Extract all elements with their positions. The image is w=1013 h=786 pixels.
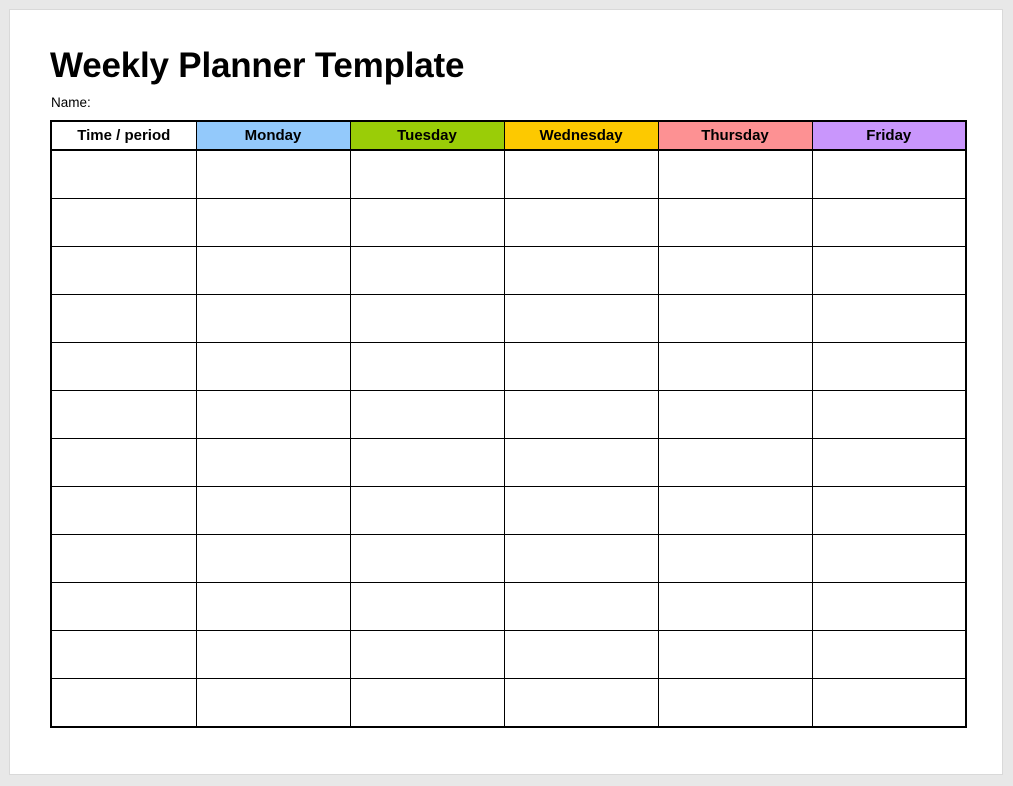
planner-entry-cell[interactable] (504, 247, 658, 295)
planner-entry-cell[interactable] (812, 247, 966, 295)
table-row (51, 247, 966, 295)
table-row (51, 391, 966, 439)
planner-entry-cell[interactable] (504, 391, 658, 439)
planner-entry-cell[interactable] (196, 631, 350, 679)
document-body: Weekly Planner Template Name: Time / per… (50, 45, 966, 728)
planner-entry-cell[interactable] (350, 199, 504, 247)
planner-time-cell[interactable] (51, 439, 196, 487)
planner-entry-cell[interactable] (196, 247, 350, 295)
planner-entry-cell[interactable] (658, 391, 812, 439)
table-row (51, 439, 966, 487)
planner-header-label: Friday (866, 127, 911, 144)
planner-entry-cell[interactable] (196, 535, 350, 583)
planner-table-head: Time / periodMondayTuesdayWednesdayThurs… (51, 121, 966, 150)
table-row (51, 343, 966, 391)
table-row (51, 295, 966, 343)
planner-entry-cell[interactable] (504, 583, 658, 631)
planner-time-cell[interactable] (51, 679, 196, 728)
planner-entry-cell[interactable] (350, 439, 504, 487)
planner-entry-cell[interactable] (350, 631, 504, 679)
planner-header-cell-monday: Monday (196, 121, 350, 150)
planner-entry-cell[interactable] (350, 343, 504, 391)
planner-entry-cell[interactable] (504, 295, 658, 343)
planner-header-cell-tuesday: Tuesday (350, 121, 504, 150)
planner-entry-cell[interactable] (350, 150, 504, 199)
planner-header-cell-time-period: Time / period (51, 121, 196, 150)
planner-entry-cell[interactable] (504, 343, 658, 391)
planner-time-cell[interactable] (51, 391, 196, 439)
weekly-planner-table: Time / periodMondayTuesdayWednesdayThurs… (50, 120, 967, 728)
planner-entry-cell[interactable] (658, 583, 812, 631)
planner-header-label: Time / period (77, 127, 170, 144)
planner-entry-cell[interactable] (812, 150, 966, 199)
planner-entry-cell[interactable] (196, 150, 350, 199)
planner-entry-cell[interactable] (350, 583, 504, 631)
planner-entry-cell[interactable] (812, 391, 966, 439)
planner-entry-cell[interactable] (504, 199, 658, 247)
planner-time-cell[interactable] (51, 343, 196, 391)
planner-entry-cell[interactable] (350, 295, 504, 343)
table-row (51, 199, 966, 247)
planner-header-row: Time / periodMondayTuesdayWednesdayThurs… (51, 121, 966, 150)
planner-header-label: Tuesday (397, 127, 457, 144)
planner-header-label: Thursday (701, 127, 769, 144)
planner-entry-cell[interactable] (812, 295, 966, 343)
planner-entry-cell[interactable] (196, 199, 350, 247)
table-row (51, 679, 966, 728)
planner-entry-cell[interactable] (350, 535, 504, 583)
table-row (51, 583, 966, 631)
planner-entry-cell[interactable] (812, 679, 966, 728)
planner-entry-cell[interactable] (504, 487, 658, 535)
planner-header-cell-friday: Friday (812, 121, 966, 150)
planner-time-cell[interactable] (51, 535, 196, 583)
planner-entry-cell[interactable] (812, 343, 966, 391)
table-row (51, 535, 966, 583)
planner-entry-cell[interactable] (658, 247, 812, 295)
planner-time-cell[interactable] (51, 247, 196, 295)
planner-entry-cell[interactable] (196, 583, 350, 631)
planner-entry-cell[interactable] (196, 679, 350, 728)
planner-entry-cell[interactable] (812, 487, 966, 535)
table-row (51, 631, 966, 679)
planner-entry-cell[interactable] (196, 343, 350, 391)
planner-entry-cell[interactable] (658, 631, 812, 679)
planner-entry-cell[interactable] (350, 679, 504, 728)
planner-entry-cell[interactable] (196, 439, 350, 487)
planner-entry-cell[interactable] (812, 535, 966, 583)
planner-entry-cell[interactable] (812, 199, 966, 247)
planner-header-cell-thursday: Thursday (658, 121, 812, 150)
planner-entry-cell[interactable] (658, 487, 812, 535)
planner-entry-cell[interactable] (504, 631, 658, 679)
planner-entry-cell[interactable] (196, 295, 350, 343)
planner-time-cell[interactable] (51, 487, 196, 535)
planner-entry-cell[interactable] (812, 583, 966, 631)
planner-time-cell[interactable] (51, 199, 196, 247)
planner-entry-cell[interactable] (812, 439, 966, 487)
planner-entry-cell[interactable] (350, 247, 504, 295)
planner-time-cell[interactable] (51, 295, 196, 343)
page-sheet: Weekly Planner Template Name: Time / per… (9, 9, 1003, 775)
planner-entry-cell[interactable] (658, 343, 812, 391)
planner-entry-cell[interactable] (658, 439, 812, 487)
planner-entry-cell[interactable] (658, 679, 812, 728)
planner-entry-cell[interactable] (658, 199, 812, 247)
planner-entry-cell[interactable] (658, 535, 812, 583)
planner-entry-cell[interactable] (196, 391, 350, 439)
planner-entry-cell[interactable] (658, 295, 812, 343)
planner-header-label: Monday (245, 127, 302, 144)
planner-entry-cell[interactable] (504, 535, 658, 583)
planner-entry-cell[interactable] (658, 150, 812, 199)
planner-header-label: Wednesday (539, 127, 622, 144)
table-row (51, 150, 966, 199)
planner-table-wrapper: Time / periodMondayTuesdayWednesdayThurs… (50, 120, 966, 728)
planner-time-cell[interactable] (51, 583, 196, 631)
planner-entry-cell[interactable] (504, 150, 658, 199)
planner-entry-cell[interactable] (350, 391, 504, 439)
table-row (51, 487, 966, 535)
planner-time-cell[interactable] (51, 631, 196, 679)
page-title: Weekly Planner Template (50, 45, 966, 87)
planner-time-cell[interactable] (51, 150, 196, 199)
planner-header-cell-wednesday: Wednesday (504, 121, 658, 150)
name-label: Name: (51, 95, 966, 111)
planner-table-body (51, 150, 966, 727)
planner-entry-cell[interactable] (350, 487, 504, 535)
planner-entry-cell[interactable] (504, 679, 658, 728)
planner-entry-cell[interactable] (196, 487, 350, 535)
planner-entry-cell[interactable] (812, 631, 966, 679)
planner-entry-cell[interactable] (504, 439, 658, 487)
